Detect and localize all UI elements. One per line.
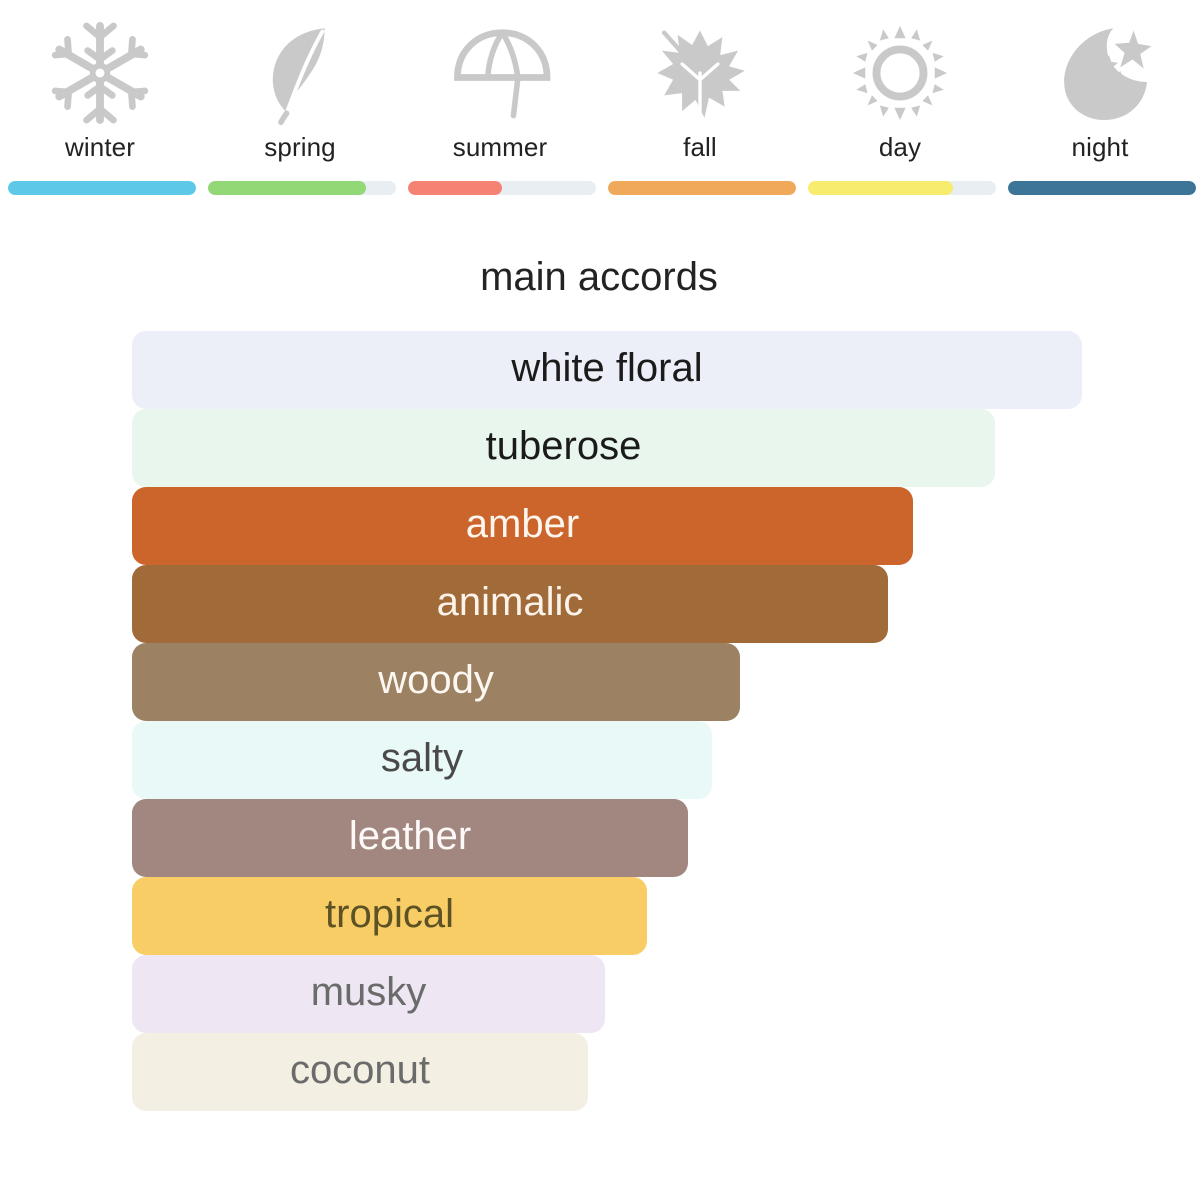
accord-row[interactable]: tropical (0, 877, 1200, 955)
page-title: main accords (0, 210, 1200, 297)
season-bar-fill (1008, 181, 1196, 195)
accord-bar[interactable]: animalic (132, 565, 888, 643)
accord-label: musky (311, 972, 427, 1012)
accord-row[interactable]: tuberose (0, 409, 1200, 487)
season-label: winter (65, 134, 135, 160)
accord-label: coconut (290, 1050, 430, 1090)
accord-bar[interactable]: amber (132, 487, 913, 565)
season-bar-track (1008, 181, 1196, 195)
season-bar-fill (608, 181, 796, 195)
accord-row[interactable]: animalic (0, 565, 1200, 643)
main-accords-section: main accords white floral tuberose amber… (0, 210, 1200, 1111)
accord-bar[interactable]: coconut (132, 1033, 588, 1111)
accord-label: white floral (511, 348, 702, 388)
accords-bar-chart: white floral tuberose amber animalic woo… (0, 331, 1200, 1111)
accord-label: tropical (325, 894, 454, 934)
accord-bar[interactable]: tropical (132, 877, 647, 955)
season-bar-track (208, 181, 396, 195)
accord-label: leather (349, 816, 471, 856)
accord-row[interactable]: woody (0, 643, 1200, 721)
seasons-strip: winter spring summer (0, 0, 1200, 210)
accord-bar[interactable]: leather (132, 799, 688, 877)
accord-bar[interactable]: salty (132, 721, 712, 799)
accord-row[interactable]: leather (0, 799, 1200, 877)
season-item-day[interactable]: day (800, 0, 1000, 210)
season-bar-track (808, 181, 996, 195)
accord-row[interactable]: amber (0, 487, 1200, 565)
accord-bar[interactable]: woody (132, 643, 740, 721)
accord-row[interactable]: salty (0, 721, 1200, 799)
season-item-winter[interactable]: winter (0, 0, 200, 210)
accord-label: amber (466, 504, 579, 544)
season-item-fall[interactable]: fall (600, 0, 800, 210)
maple-leaf-icon (641, 14, 759, 132)
accord-bar[interactable]: tuberose (132, 409, 995, 487)
season-label: night (1072, 134, 1129, 160)
accord-label: salty (381, 738, 463, 778)
season-item-summer[interactable]: summer (400, 0, 600, 210)
season-bar-fill (208, 181, 366, 195)
season-bar-track (608, 181, 796, 195)
sun-icon (841, 14, 959, 132)
season-item-spring[interactable]: spring (200, 0, 400, 210)
snowflake-icon (41, 14, 159, 132)
accord-bar[interactable]: musky (132, 955, 605, 1033)
season-label: fall (683, 134, 717, 160)
season-bar-fill (808, 181, 953, 195)
accord-label: woody (378, 660, 494, 700)
season-label: summer (453, 134, 548, 160)
accord-bar[interactable]: white floral (132, 331, 1082, 409)
season-item-night[interactable]: night (1000, 0, 1200, 210)
season-bar-track (8, 181, 196, 195)
leaf-icon (241, 14, 359, 132)
accord-label: tuberose (486, 426, 642, 466)
accord-row[interactable]: musky (0, 955, 1200, 1033)
season-label: spring (264, 134, 335, 160)
season-bar-fill (408, 181, 502, 195)
accord-label: animalic (437, 582, 584, 622)
accord-row[interactable]: coconut (0, 1033, 1200, 1111)
beach-umbrella-icon (441, 14, 559, 132)
season-bar-fill (8, 181, 196, 195)
season-bar-track (408, 181, 596, 195)
season-label: day (879, 134, 921, 160)
moon-stars-icon (1041, 14, 1159, 132)
accord-row[interactable]: white floral (0, 331, 1200, 409)
